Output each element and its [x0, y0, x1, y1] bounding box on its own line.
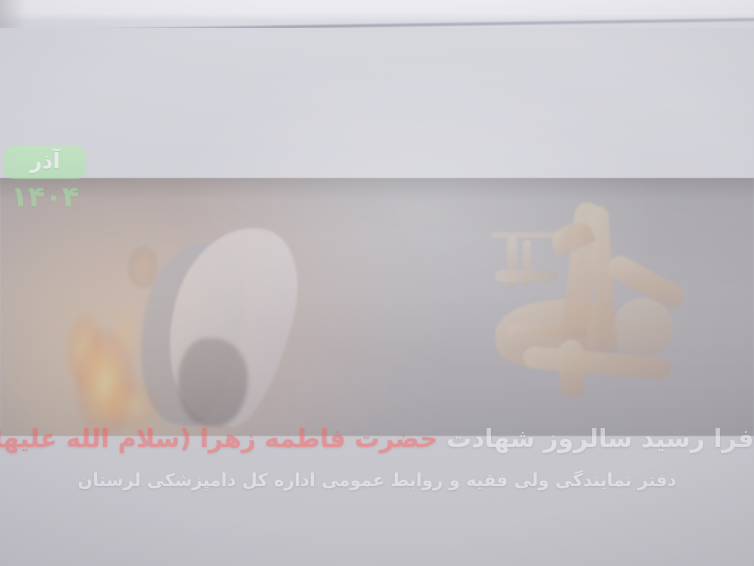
- caption-headline: فرا رسید سالروز شهادت حضرت فاطمه زهرا (س…: [0, 423, 754, 454]
- date-badge: آذر ۱۴۰۴: [4, 146, 86, 211]
- headline-lead-text: فرا رسید سالروز شهادت: [438, 424, 754, 453]
- slide-caption: فرا رسید سالروز شهادت حضرت فاطمه زهرا (س…: [0, 423, 754, 493]
- badge-month-label: آذر: [4, 146, 86, 179]
- calligraphy-stroke: [495, 270, 557, 282]
- headline-highlight-text: حضرت فاطمه زهرا (سلام الله علیها): [0, 424, 438, 453]
- calligraphy-stroke: [491, 232, 561, 238]
- calligraphy-small-word: [489, 236, 565, 296]
- arabic-calligraphy-artwork: [455, 200, 705, 405]
- badge-year-label: ۱۴۰۴: [4, 182, 86, 211]
- caption-subline: دفتر نمایندگی ولی فقیه و روابط عمومی ادا…: [0, 470, 754, 493]
- projection-photo-scene: آذر ۱۴۰۴ فرا رسید سالروز شهادت حضرت فاطم…: [0, 0, 754, 566]
- figure-shadow: [178, 338, 248, 426]
- projected-slide: آذر ۱۴۰۴ فرا رسید سالروز شهادت حضرت فاطم…: [0, 28, 754, 566]
- calligraphy-stroke: [558, 339, 587, 398]
- mourning-figure: [120, 218, 320, 433]
